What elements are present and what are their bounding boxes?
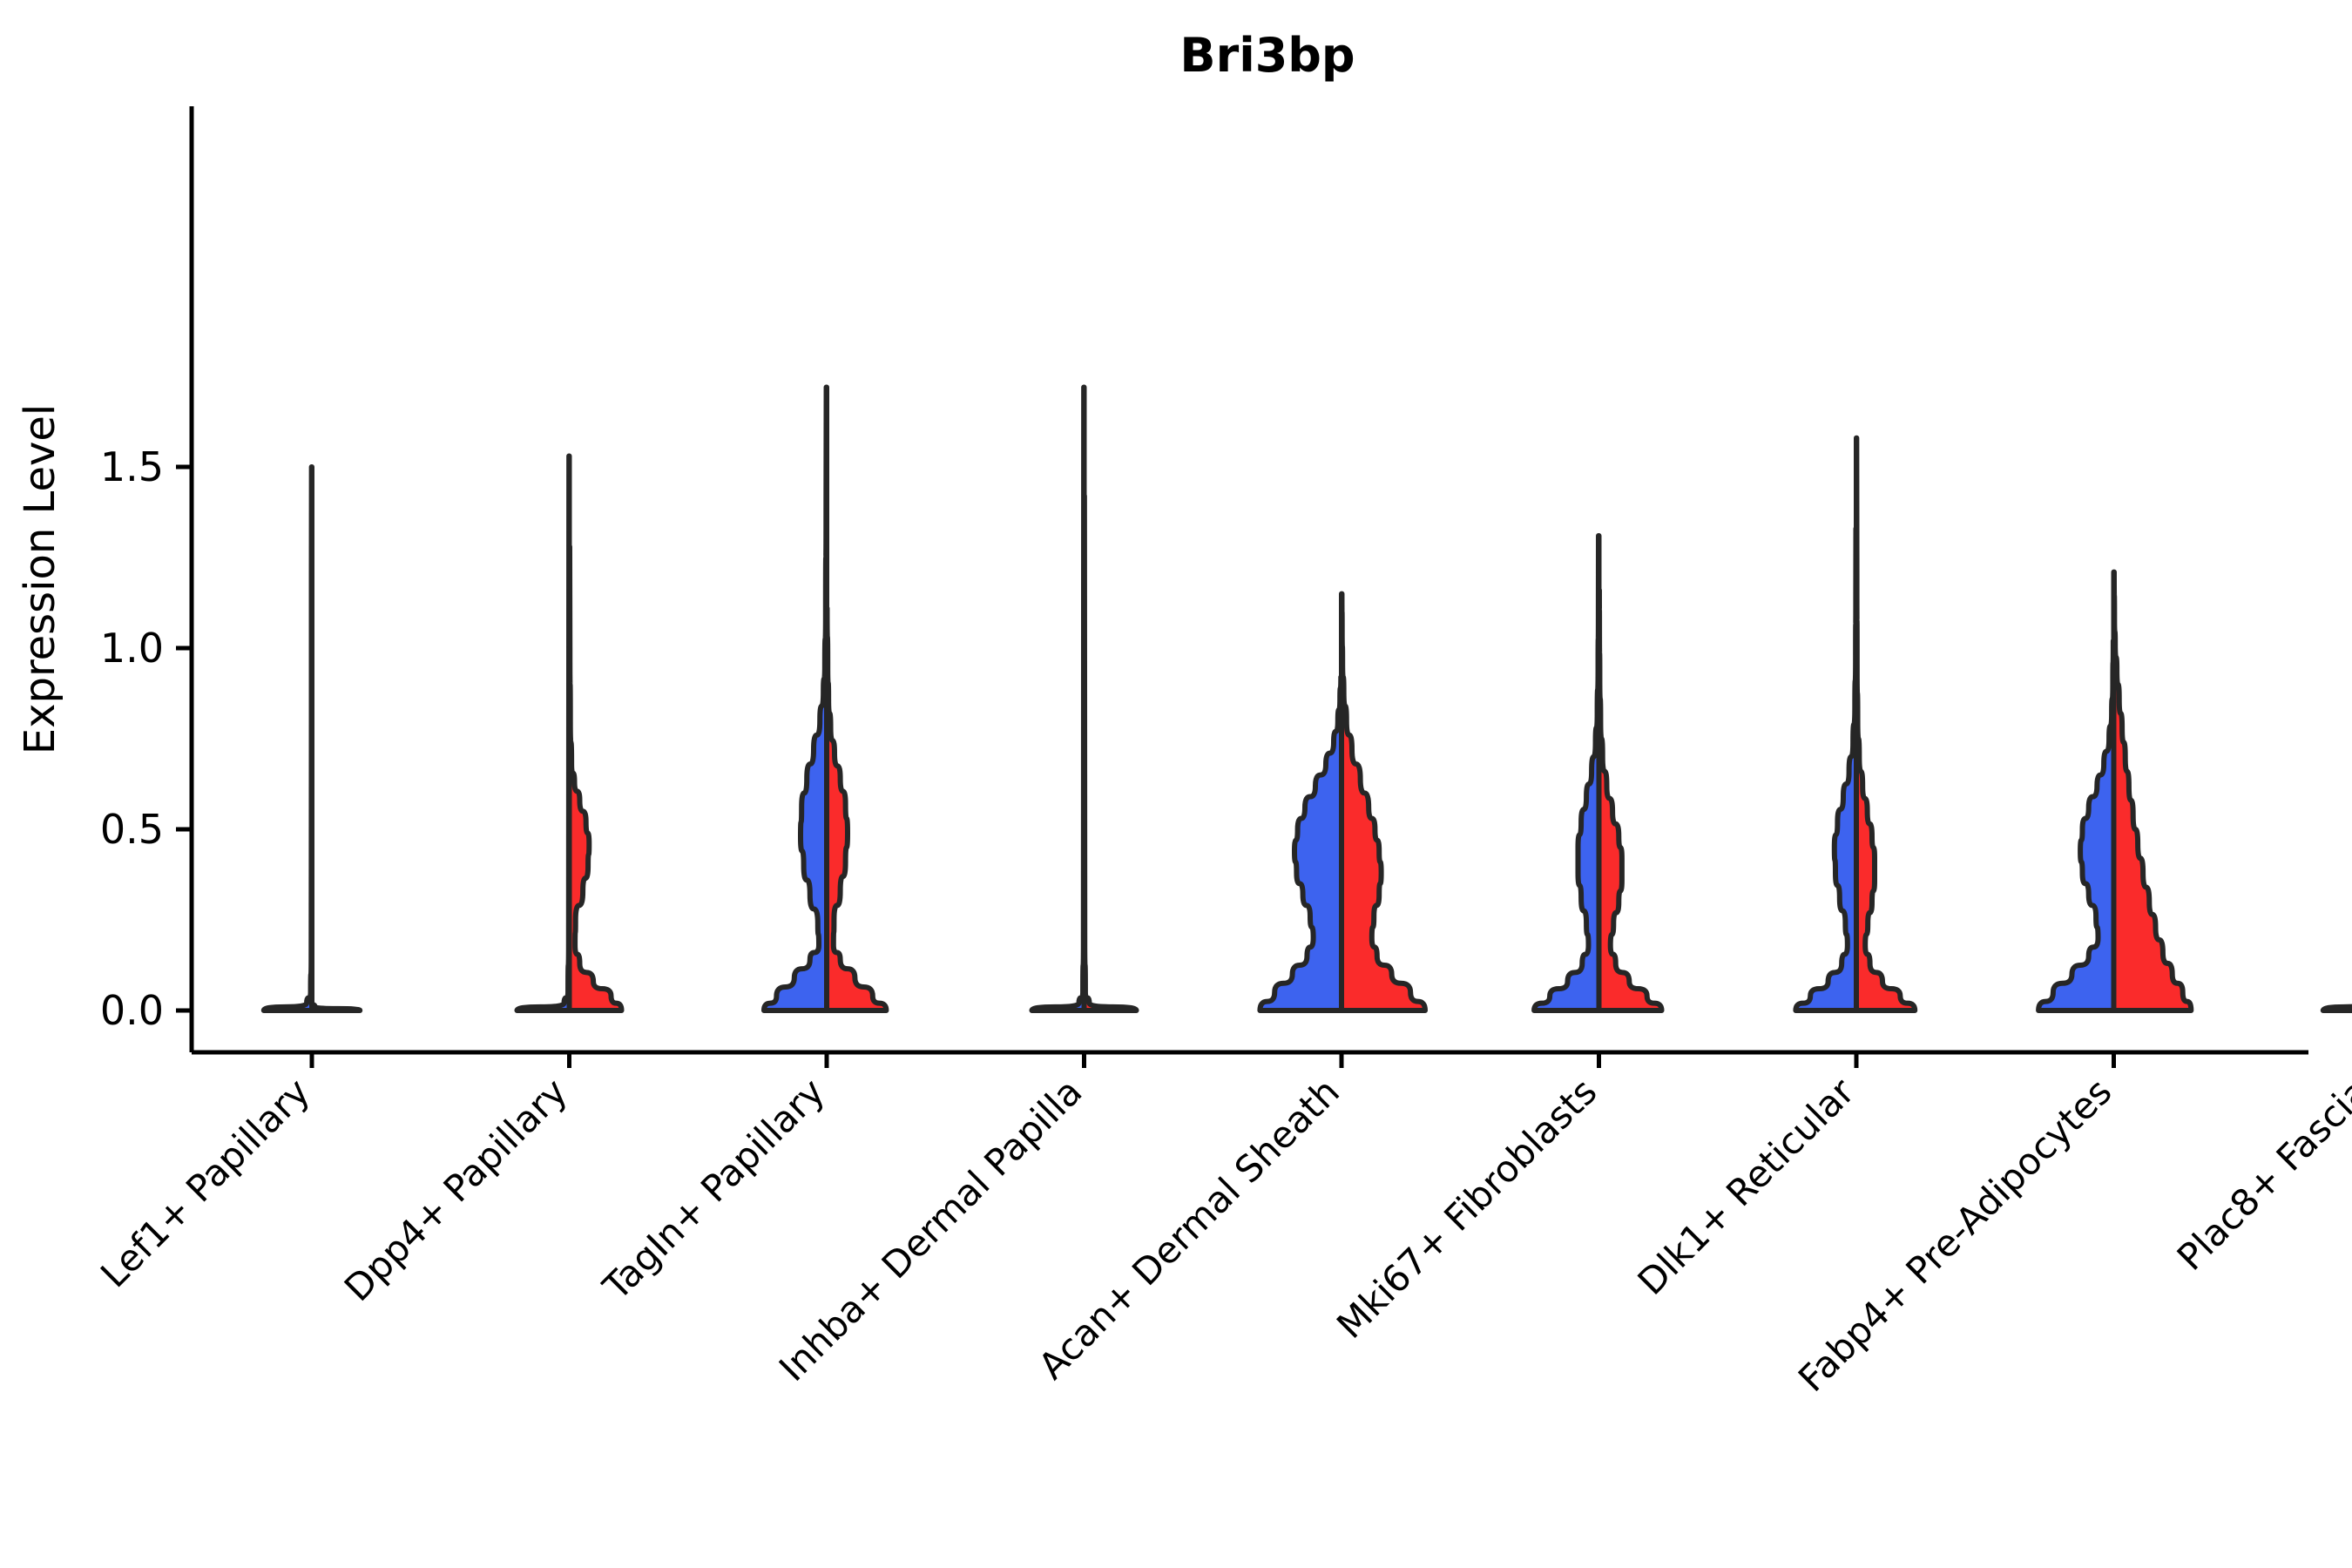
x-tick-label: TagIn+ Papillary xyxy=(594,1070,833,1308)
x-tick-label: Inhba+ Dermal Papilla xyxy=(771,1070,1091,1389)
x-axis-ticks xyxy=(312,1052,2352,1068)
violin-plot-figure: Bri3bp Expression Level 0.00.51.01.5 Lef… xyxy=(0,0,2352,1568)
chart-canvas: Bri3bp Expression Level 0.00.51.01.5 Lef… xyxy=(0,0,2352,1568)
x-tick-label: Acan+ Dermal Sheath xyxy=(1031,1070,1348,1387)
violin-half-red[interactable] xyxy=(1085,496,1137,1010)
x-tick-label: Dlk1+ Reticular xyxy=(1630,1070,1863,1303)
x-tick-label: Lef1+ Papillary xyxy=(92,1070,318,1295)
x-axis-tick-labels: Lef1+ PapillaryDpp4+ PapillaryTagIn+ Pap… xyxy=(92,1070,2352,1400)
violin-half-red[interactable] xyxy=(312,1004,360,1010)
x-tick-label: Mki67+ Fibroblasts xyxy=(1328,1070,1605,1346)
y-tick-label: 0.0 xyxy=(100,987,164,1034)
violin-half-red[interactable] xyxy=(570,547,622,1010)
violin-half-red[interactable] xyxy=(1856,438,1915,1010)
y-axis-label: Expression Level xyxy=(16,404,64,755)
violin-half-blue[interactable] xyxy=(1032,387,1085,1010)
y-tick-label: 0.5 xyxy=(100,806,164,853)
violin-series-group xyxy=(264,387,2352,1010)
violin-half-red[interactable] xyxy=(2114,572,2192,1010)
x-tick-label: Plac8+ Fascia xyxy=(2169,1070,2352,1278)
violin-half-red[interactable] xyxy=(827,608,886,1010)
violin-half-blue[interactable] xyxy=(2323,735,2352,1010)
violin-half-red[interactable] xyxy=(1342,594,1425,1010)
y-axis-ticks: 0.00.51.01.5 xyxy=(100,443,192,1034)
x-tick-label: Dpp4+ Papillary xyxy=(336,1070,576,1309)
violin-half-blue[interactable] xyxy=(1795,529,1856,1010)
violin-half-blue[interactable] xyxy=(2038,641,2113,1010)
violin-half-blue[interactable] xyxy=(1534,536,1598,1010)
violin-half-blue[interactable] xyxy=(1260,677,1342,1010)
violin-half-red[interactable] xyxy=(1599,590,1662,1010)
violin-half-blue[interactable] xyxy=(764,387,827,1010)
page-title: Bri3bp xyxy=(1179,28,1355,83)
y-tick-label: 1.5 xyxy=(100,443,164,490)
violin-half-blue[interactable] xyxy=(517,456,570,1010)
violin-half-blue[interactable] xyxy=(264,467,312,1010)
y-tick-label: 1.0 xyxy=(100,625,164,672)
